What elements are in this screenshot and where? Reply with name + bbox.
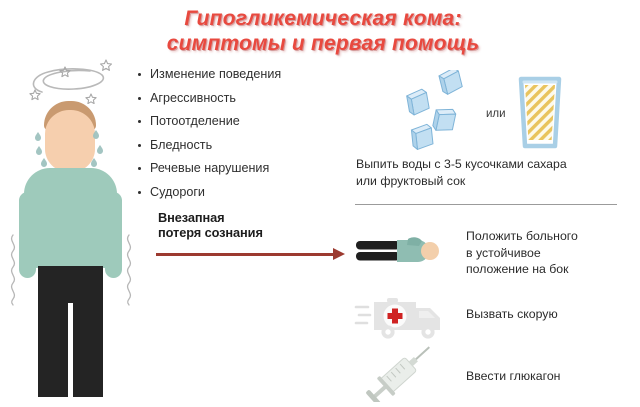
symptom-label: Бледность <box>150 138 212 152</box>
pants-leg-gap <box>68 303 73 398</box>
sugar-cubes-icon <box>390 70 486 159</box>
title-line-2: симптомы и первая помощь <box>118 31 528 56</box>
title-line-1: Гипогликемическая кома: <box>184 7 461 30</box>
arrow-head-icon <box>333 248 345 260</box>
page-title: Гипогликемическая кома: симптомы и перва… <box>118 6 528 56</box>
bullet-icon <box>138 120 141 123</box>
list-item: Агрессивность <box>138 92 348 105</box>
action-label-recovery-position: Положить больного в устойчивое положение… <box>466 228 578 278</box>
action-label-inject-glucagon: Ввести глюкагон <box>466 368 560 385</box>
action-item-recovery-position: Положить больного в устойчивое положение… <box>350 228 640 288</box>
flow-arrow <box>156 248 351 262</box>
infographic-canvas: Гипогликемическая кома: симптомы и перва… <box>0 0 640 400</box>
list-item: Бледность <box>138 139 348 152</box>
action-line-1: Вызвать скорую <box>466 306 558 323</box>
drink-caption: Выпить воды с 3-5 кусочками сахара или ф… <box>356 156 636 189</box>
or-label: или <box>486 108 506 120</box>
symptom-label: Судороги <box>150 185 205 199</box>
juice-glass-icon <box>513 76 567 155</box>
list-item: Изменение поведения <box>138 68 348 81</box>
action-line-3: положение на бок <box>466 261 578 278</box>
bullet-icon <box>138 167 141 170</box>
drink-illustration-row: или <box>350 68 640 154</box>
action-item-call-ambulance: Вызвать скорую <box>350 290 640 348</box>
symptom-label: Речевые нарушения <box>150 161 269 175</box>
arrow-line <box>156 253 336 256</box>
list-item: Речевые нарушения <box>138 162 348 175</box>
action-line-1: Ввести глюкагон <box>466 368 560 385</box>
right-arm <box>105 192 122 278</box>
action-line-2: в устойчивое <box>466 245 578 262</box>
bullet-icon <box>138 191 141 194</box>
list-item: Судороги <box>138 186 348 199</box>
drink-caption-line-2: или фруктовый сок <box>356 173 636 190</box>
first-aid-panel: или Вы <box>350 68 640 400</box>
dizzy-person-illustration <box>0 58 140 400</box>
action-item-inject-glucagon: Ввести глюкагон <box>350 346 640 404</box>
symptom-list: Изменение поведения Агрессивность Потоот… <box>138 68 348 209</box>
section-divider <box>355 204 617 205</box>
sudden-line-2: потеря сознания <box>158 225 263 240</box>
symptom-label: Агрессивность <box>150 91 236 105</box>
syringe-icon <box>358 346 444 407</box>
sudden-line-1: Внезапная <box>158 210 263 225</box>
symptom-label: Потоотделение <box>150 114 240 128</box>
bullet-icon <box>138 144 141 147</box>
symptom-label: Изменение поведения <box>150 67 281 81</box>
ambulance-icon <box>354 294 454 349</box>
bullet-icon <box>138 97 141 100</box>
action-line-1: Положить больного <box>466 228 578 245</box>
action-label-call-ambulance: Вызвать скорую <box>466 306 558 323</box>
left-arm <box>19 192 36 278</box>
recovery-position-icon <box>356 234 454 275</box>
bullet-icon <box>138 73 141 76</box>
shiver-lines-right-icon <box>122 233 136 320</box>
drink-caption-line-1: Выпить воды с 3-5 кусочками сахара <box>356 156 636 173</box>
torso-sweater <box>24 168 117 268</box>
list-item: Потоотделение <box>138 115 348 128</box>
shiver-lines-left-icon <box>6 233 20 320</box>
sudden-unconsciousness-label: Внезапная потеря сознания <box>158 210 263 240</box>
